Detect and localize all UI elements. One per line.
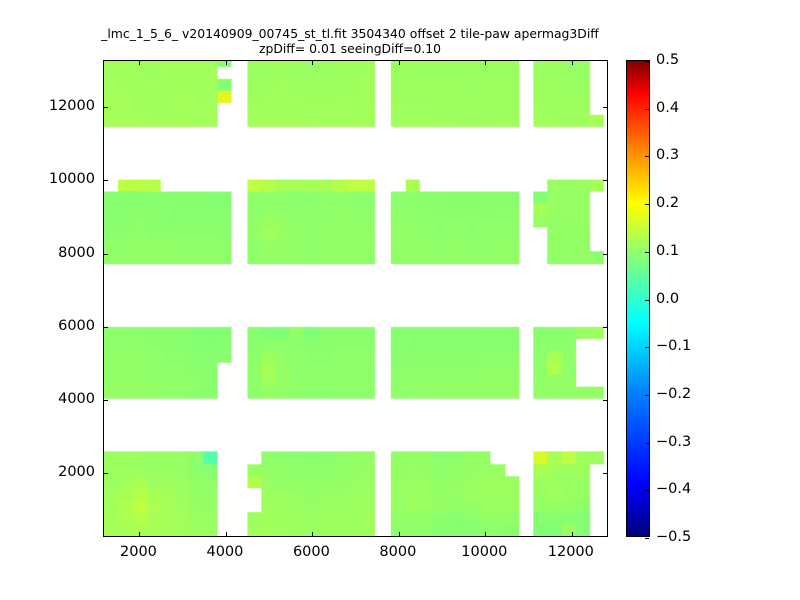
colorbar-tick-label: −0.2 [656, 386, 691, 402]
x-tick-12000 [572, 61, 573, 65]
title-block: _lmc_1_5_6_ v20140909_00745_st_tl.fit 35… [0, 26, 700, 56]
colorbar-gradient [627, 61, 649, 536]
y-tick-12000 [603, 107, 607, 108]
y-tick-8000 [603, 254, 607, 255]
x-tick-label: 6000 [293, 544, 330, 560]
x-tick-2000 [139, 61, 140, 65]
y-tick-6000 [104, 327, 108, 328]
colorbar-tick-label: 0.1 [656, 243, 679, 259]
x-tick-8000 [399, 61, 400, 65]
colorbar [626, 60, 650, 537]
x-tick-label: 2000 [120, 544, 157, 560]
y-tick-8000 [104, 254, 108, 255]
y-tick-12000 [104, 107, 108, 108]
x-tick-10000 [485, 61, 486, 65]
colorbar-tick-0.1 [645, 252, 649, 253]
colorbar-tick-label: 0.5 [656, 52, 679, 68]
x-tick-12000 [572, 532, 573, 536]
colorbar-tick-label: −0.5 [656, 529, 691, 545]
x-tick-label: 8000 [379, 544, 416, 560]
colorbar-tick-label: 0.0 [656, 291, 679, 307]
figure-canvas: _lmc_1_5_6_ v20140909_00745_st_tl.fit 35… [0, 0, 800, 600]
colorbar-tick-label: −0.4 [656, 481, 691, 497]
colorbar-tick--0.1 [645, 347, 649, 348]
main-axes [103, 60, 608, 537]
x-tick-6000 [312, 532, 313, 536]
colorbar-tick-0.4 [645, 109, 649, 110]
y-tick-2000 [603, 473, 607, 474]
colorbar-tick--0.4 [645, 490, 649, 491]
y-tick-2000 [104, 473, 108, 474]
x-tick-label: 10000 [461, 544, 507, 560]
colorbar-tick-label: 0.4 [656, 100, 679, 116]
colorbar-tick--0.3 [645, 443, 649, 444]
x-tick-2000 [139, 532, 140, 536]
x-tick-8000 [399, 532, 400, 536]
x-tick-label: 4000 [206, 544, 243, 560]
y-tick-label: 12000 [10, 98, 95, 114]
colorbar-tick-label: 0.3 [656, 147, 679, 163]
x-tick-10000 [485, 532, 486, 536]
y-tick-label: 4000 [10, 391, 95, 407]
colorbar-tick-label: −0.1 [656, 338, 691, 354]
colorbar-tick--0.5 [645, 538, 649, 539]
x-tick-label: 12000 [548, 544, 594, 560]
y-tick-6000 [603, 327, 607, 328]
plot-title: _lmc_1_5_6_ v20140909_00745_st_tl.fit 35… [0, 26, 700, 41]
y-tick-label: 2000 [10, 464, 95, 480]
colorbar-tick--0.2 [645, 395, 649, 396]
colorbar-tick-0.2 [645, 204, 649, 205]
heatmap-image [104, 61, 607, 536]
y-tick-10000 [104, 180, 108, 181]
colorbar-tick-label: −0.3 [656, 434, 691, 450]
y-tick-10000 [603, 180, 607, 181]
colorbar-tick-0.3 [645, 156, 649, 157]
x-tick-4000 [226, 61, 227, 65]
colorbar-tick-0 [645, 300, 649, 301]
y-tick-label: 10000 [10, 171, 95, 187]
x-tick-6000 [312, 61, 313, 65]
y-tick-4000 [603, 400, 607, 401]
x-tick-4000 [226, 532, 227, 536]
y-tick-label: 8000 [10, 245, 95, 261]
y-tick-4000 [104, 400, 108, 401]
plot-subtitle: zpDiff= 0.01 seeingDiff=0.10 [0, 41, 700, 56]
y-tick-label: 6000 [10, 318, 95, 334]
colorbar-tick-0.5 [645, 61, 649, 62]
colorbar-tick-label: 0.2 [656, 195, 679, 211]
